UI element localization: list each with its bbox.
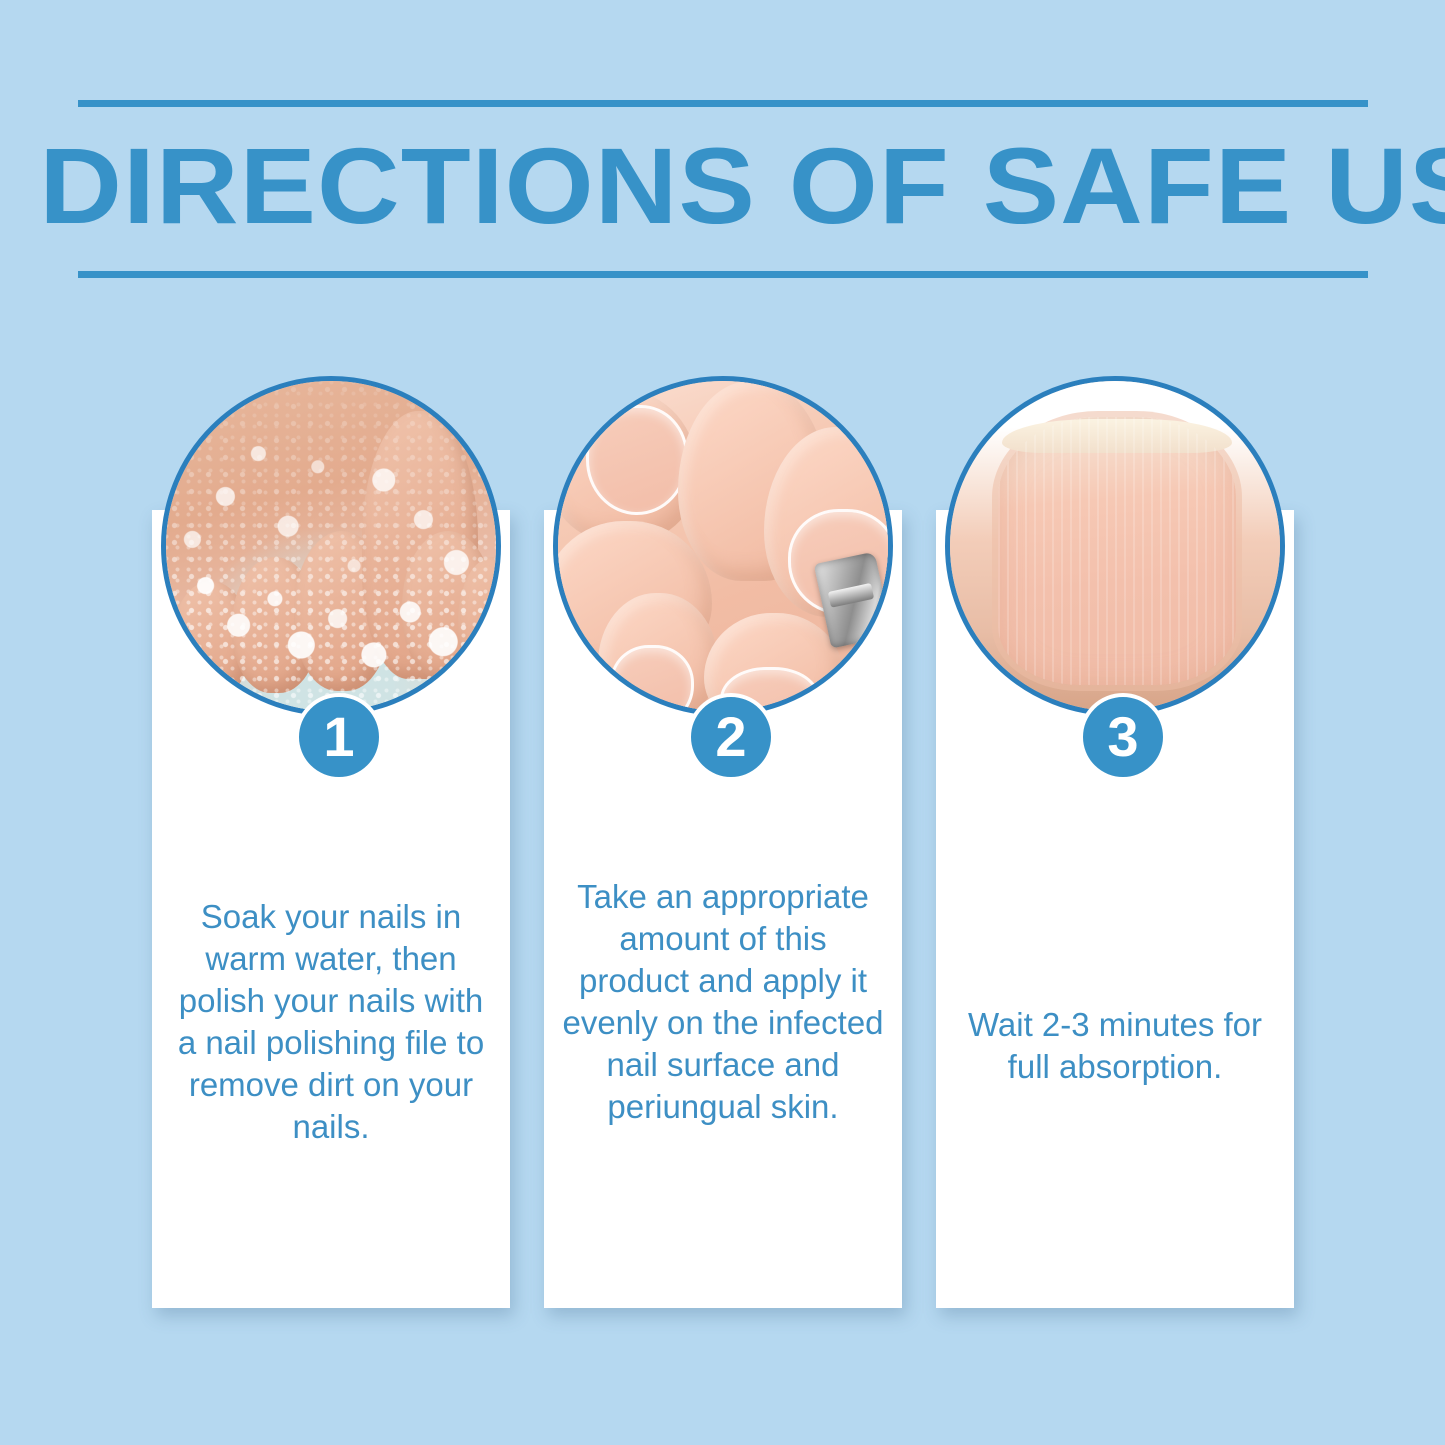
step-number-badge-3: 3 [1079, 693, 1167, 781]
step-text-1: Soak your nails in warm water, then poli… [170, 896, 492, 1148]
step-card-2: 2 Take an appropriate amount of this pro… [544, 376, 902, 1316]
feet-soaking-in-soapy-water-photo [161, 376, 501, 716]
step-text-2: Take an appropriate amount of this produ… [562, 876, 884, 1128]
healthy-toenail-closeup-photo [945, 376, 1285, 716]
step-card-3: 3 Wait 2-3 minutes for full absorption. [936, 376, 1294, 1316]
page-title: DIRECTIONS OF SAFE USE [39, 116, 1406, 256]
toes-with-nail-clipper-photo [553, 376, 893, 716]
step-card-1: 1 Soak your nails in warm water, then po… [152, 376, 510, 1316]
step-number-badge-1: 1 [295, 693, 383, 781]
page-header: DIRECTIONS OF SAFE USE [78, 100, 1368, 280]
step-text-3: Wait 2-3 minutes for full absorption. [954, 1004, 1276, 1088]
header-bottom-rule [78, 271, 1368, 278]
steps-container: 1 Soak your nails in warm water, then po… [152, 376, 1294, 1316]
step-number-badge-2: 2 [687, 693, 775, 781]
header-top-rule [78, 100, 1368, 107]
